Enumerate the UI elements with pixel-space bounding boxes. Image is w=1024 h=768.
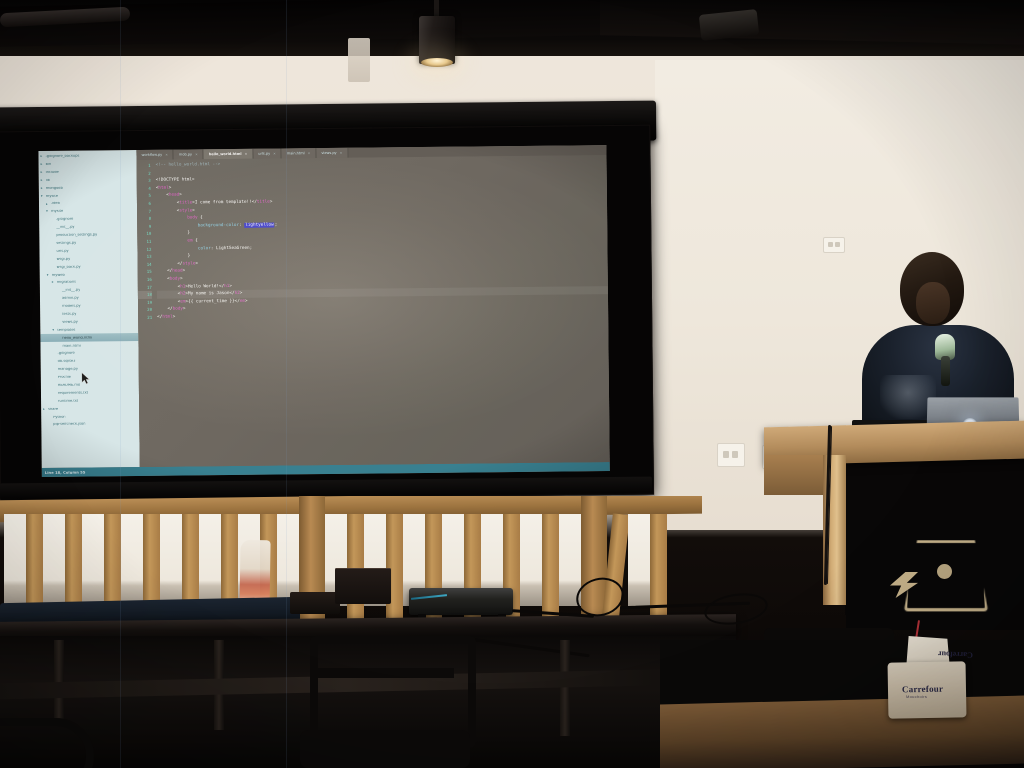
code-text[interactable]: <!-- hello_world.html --> <!DOCTYPE html…	[153, 155, 610, 467]
file-tree-item-label: Python	[53, 415, 66, 419]
lamp-glow	[421, 58, 453, 67]
logo-dot-icon	[937, 564, 952, 579]
close-icon[interactable]: ×	[245, 152, 248, 156]
file-tree-item-label: admin.py	[62, 297, 79, 301]
line-number: 7	[137, 207, 151, 215]
editor-tab[interactable]: mob.py×	[174, 149, 204, 159]
tissue-brand-mirrored: Carrefour	[938, 649, 973, 659]
file-tree-item-label: main.html	[62, 344, 80, 348]
photo-seam-1	[120, 0, 121, 768]
line-number: 4	[137, 185, 151, 193]
editor-tab-label: views.py	[321, 151, 336, 155]
line-number: 18	[138, 291, 152, 299]
file-tree-item-label: __init__.py	[56, 226, 74, 230]
line-number: 5	[137, 192, 151, 200]
wall-outlet-upper	[823, 237, 845, 253]
file-tree-item-label: models.py	[62, 305, 81, 309]
file-tree-item-label: .idea	[51, 202, 60, 206]
file-tree-item-label: mongodb	[46, 186, 63, 190]
close-icon[interactable]: ×	[195, 152, 198, 156]
podium-front-panel	[764, 455, 825, 495]
editor-tab[interactable]: urls.py×	[253, 148, 282, 158]
file-tree-item-label: .gitignore	[58, 352, 75, 356]
editor-tab[interactable]: views.py×	[316, 148, 348, 158]
line-number: 19	[138, 299, 152, 307]
line-number: 10	[137, 230, 151, 238]
file-tree-item-label: templates	[57, 328, 75, 332]
table-leg-3	[560, 640, 570, 736]
projection-screen: ▸.gitignore_backups▸bin▸include▸lib▸mong…	[0, 101, 664, 498]
file-tree[interactable]: ▸.gitignore_backups▸bin▸include▸lib▸mong…	[38, 150, 139, 468]
code-area[interactable]: 123456789101112131415161718192021 <!-- h…	[137, 155, 610, 467]
editor-tab[interactable]: hello_world.html×	[204, 149, 254, 160]
file-tree-item-label: wsgi_back.py	[57, 265, 81, 269]
stacked-boxes	[335, 568, 391, 604]
line-number: 2	[137, 169, 151, 177]
foreground-table	[660, 696, 1024, 768]
microphone-handle	[941, 356, 950, 386]
projector-device	[409, 588, 513, 615]
line-number: 8	[137, 215, 151, 223]
line-number: 3	[137, 177, 151, 185]
file-tree-item-label: views.py	[62, 320, 78, 324]
file-tree-item-label: __init__.py	[62, 289, 80, 293]
file-tree-item-label: include	[46, 171, 59, 175]
file-tree-item-label: hello_world.html	[62, 336, 92, 340]
editor-tab-label: main.html	[287, 151, 305, 155]
close-icon[interactable]: ×	[340, 151, 343, 155]
chair-slat-center	[318, 668, 454, 678]
file-tree-item-label: pip-selfcheck.json	[53, 423, 85, 427]
projected-image: ▸.gitignore_backups▸bin▸include▸lib▸mong…	[38, 145, 609, 477]
file-tree-item-label: urls.py	[56, 250, 68, 254]
file-tree-item-label: production_settings.py	[56, 233, 97, 237]
file-tree-item-label: .gitignore	[56, 218, 73, 222]
file-tree-item-label: db.sqlite3	[58, 360, 76, 364]
chair-seat-center[interactable]	[300, 730, 470, 768]
line-number: 1	[137, 162, 151, 170]
close-icon[interactable]: ×	[273, 152, 276, 156]
editor-tab-label: urls.py	[258, 152, 270, 156]
file-tree-item-label: lib	[46, 179, 50, 183]
pendant-lamp	[419, 16, 455, 64]
close-icon[interactable]: ×	[308, 151, 311, 155]
line-number: 11	[137, 238, 151, 246]
file-tree-item-label: Procfile	[58, 376, 71, 380]
file-tree-item-label: bin	[46, 163, 52, 167]
file-tree-item-label: requirements.txt	[58, 391, 88, 395]
file-tree-item-label: README.md	[58, 384, 80, 388]
line-number: 6	[137, 200, 151, 208]
close-icon[interactable]: ×	[165, 153, 168, 157]
file-tree-item-label: mysite	[46, 194, 58, 198]
file-tree-item-label: settings.py	[56, 242, 76, 246]
presenter-face	[916, 282, 950, 324]
file-tree-item-label: migrations	[57, 281, 76, 285]
photo-seam-2	[286, 0, 287, 768]
line-number: 15	[138, 268, 152, 276]
file-tree-item-label: tests.py	[62, 313, 76, 317]
line-number: 12	[137, 245, 151, 253]
file-tree-item[interactable]: pip-selfcheck.json	[41, 420, 139, 429]
editor-tab-label: hello_world.html	[209, 152, 242, 156]
file-tree-item-label: manage.py	[58, 368, 78, 372]
light-switch-left[interactable]	[717, 443, 745, 467]
editor-tab-label: workflow.py	[141, 153, 162, 157]
line-number: 20	[138, 306, 152, 314]
line-number: 14	[138, 261, 152, 269]
file-tree-item-label: share	[48, 407, 58, 411]
editor-tab[interactable]: workflow.py×	[136, 150, 174, 160]
wall-vent	[348, 38, 370, 82]
editor-pane: workflow.py×mob.py×hello_world.html×urls…	[136, 145, 609, 467]
file-tree-item-label: mysite	[51, 210, 63, 214]
line-number: 21	[138, 314, 152, 322]
chair-back-left[interactable]	[0, 718, 94, 768]
line-number: 9	[137, 223, 151, 231]
editor-tab-label: mob.py	[179, 152, 192, 156]
photo-scene: M HBOARD 上班訓練及考核 ▸.gitignore_backups▸bin…	[0, 0, 1024, 768]
line-number: 16	[138, 276, 152, 284]
box-small	[290, 592, 340, 614]
file-tree-item-label: .gitignore_backups	[45, 155, 79, 159]
stage-banner	[846, 520, 1024, 630]
tissue-brand-label: Carrefour	[902, 684, 943, 695]
cursor-position: Line 18, Column 55	[45, 470, 86, 474]
line-number: 13	[138, 253, 152, 261]
tissue-sub-label: Mouchoirs	[906, 694, 927, 699]
file-tree-item-label: runtime.txt	[58, 399, 78, 403]
file-tree-item-label: myweb	[52, 273, 65, 277]
line-number: 17	[138, 283, 152, 291]
ide-window: ▸.gitignore_backups▸bin▸include▸lib▸mong…	[38, 145, 609, 477]
file-tree-item-label: wsgi.py	[57, 257, 71, 261]
